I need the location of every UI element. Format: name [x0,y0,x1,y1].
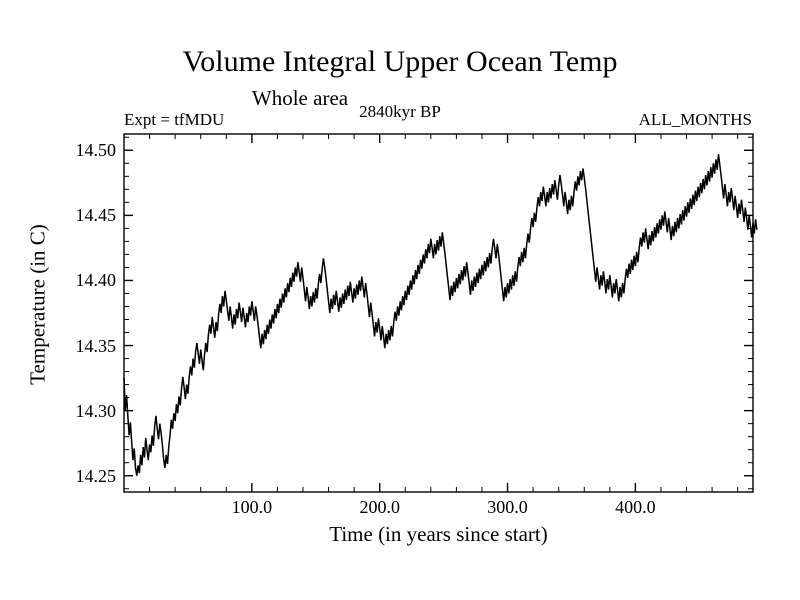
plot-area [0,0,800,600]
y-tick-label: 14.25 [38,467,116,485]
y-tick-label: 14.30 [38,402,116,420]
figure-canvas: Volume Integral Upper Ocean Temp Whole a… [0,0,800,600]
y-tick-label: 14.35 [38,337,116,355]
x-tick-label: 200.0 [359,498,400,516]
y-tick-label: 14.50 [38,141,116,159]
x-tick-label: 100.0 [232,498,273,516]
y-tick-label: 14.40 [38,271,116,289]
x-tick-label: 400.0 [615,498,656,516]
x-tick-label: 300.0 [487,498,528,516]
y-tick-label: 14.45 [38,206,116,224]
data-series-group [124,154,757,476]
